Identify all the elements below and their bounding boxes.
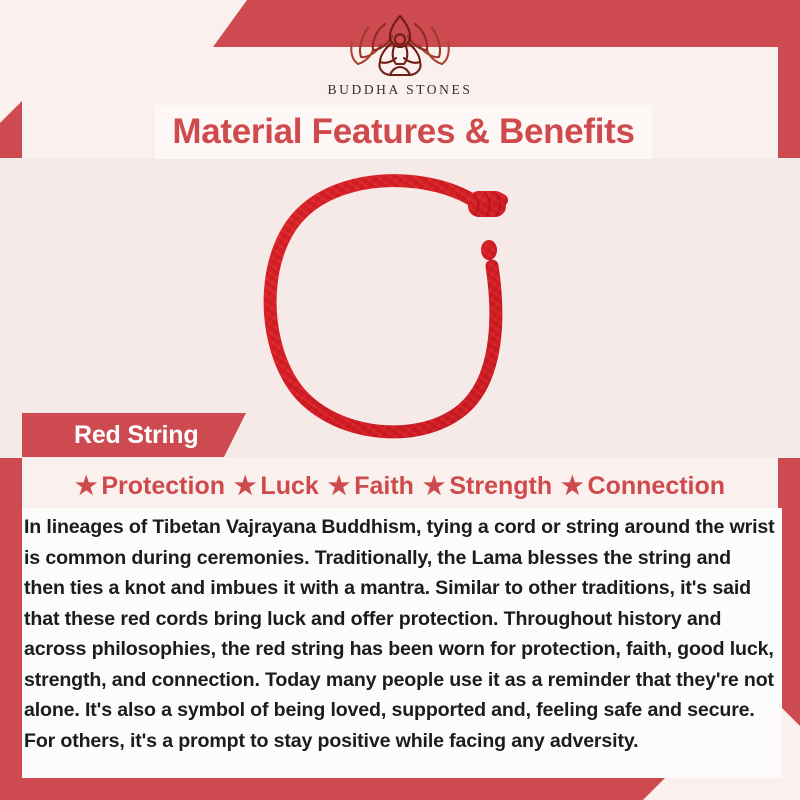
benefit-item-connection: ★ Connection <box>561 472 725 501</box>
benefit-label: Strength <box>449 472 552 501</box>
material-label: Red String <box>22 421 198 450</box>
benefit-label: Protection <box>101 472 225 501</box>
material-ribbon: Red String <box>22 413 246 457</box>
benefit-item-protection: ★ Protection <box>75 472 225 501</box>
bottom-accent-bar <box>0 778 665 800</box>
benefit-item-luck: ★ Luck <box>234 472 319 501</box>
star-icon: ★ <box>234 474 256 499</box>
benefit-label: Connection <box>588 472 726 501</box>
red-braided-bracelet-icon <box>230 158 570 458</box>
description-paragraph: In lineages of Tibetan Vajrayana Buddhis… <box>24 512 776 756</box>
benefits-row: ★ Protection ★ Luck ★ Faith ★ Strength ★… <box>22 464 778 508</box>
star-icon: ★ <box>75 474 97 499</box>
star-icon: ★ <box>423 474 445 499</box>
description-block: In lineages of Tibetan Vajrayana Buddhis… <box>22 508 782 778</box>
poster-root: BUDDHA STONES <box>0 0 800 800</box>
brand-name: BUDDHA STONES <box>0 82 800 98</box>
benefit-label: Faith <box>354 472 414 501</box>
benefit-item-faith: ★ Faith <box>328 472 414 501</box>
lotus-meditation-icon <box>338 12 462 80</box>
title-band: Material Features & Benefits <box>155 105 652 159</box>
star-icon: ★ <box>328 474 350 499</box>
benefit-item-strength: ★ Strength <box>423 472 552 501</box>
benefit-label: Luck <box>260 472 318 501</box>
star-icon: ★ <box>561 474 583 499</box>
page-title: Material Features & Benefits <box>172 112 634 152</box>
brand-block: BUDDHA STONES <box>0 12 800 98</box>
